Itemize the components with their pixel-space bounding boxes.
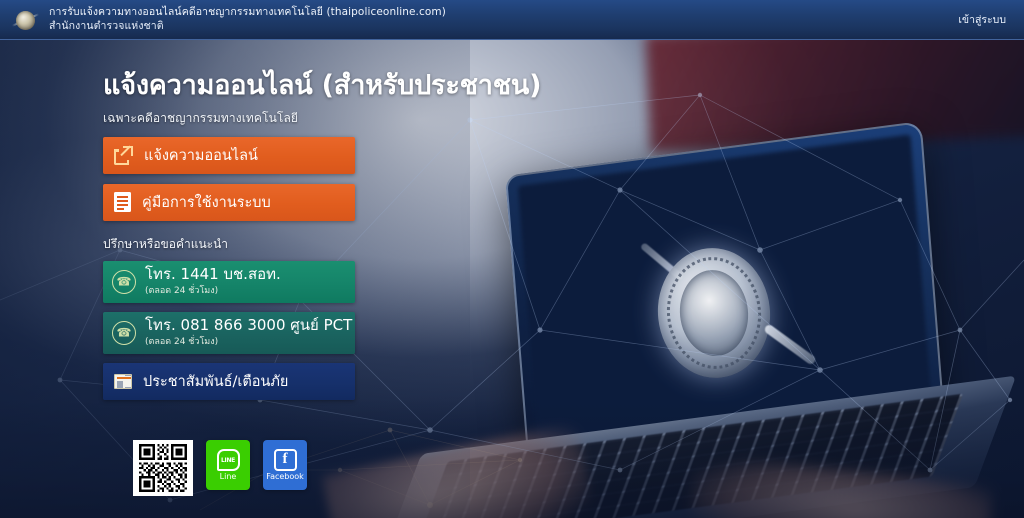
public-relations-button[interactable]: ประชาสัมพันธ์/เตือนภัย [103, 363, 355, 400]
phone-icon: ☎ [112, 321, 136, 345]
call-pct-label: โทร. 081 866 3000 ศูนย์ PCT [145, 316, 352, 334]
report-online-button[interactable]: แจ้งความออนไลน์ [103, 137, 355, 174]
call-1441-label: โทร. 1441 บช.สอท. [145, 265, 281, 283]
line-button-label: Line [220, 473, 237, 481]
header-title-line1: การรับแจ้งความทางออนไลน์คดีอาชญากรรมทางเ… [49, 6, 958, 19]
header-title-line2: สำนักงานตำรวจแห่งชาติ [49, 20, 958, 33]
document-icon [114, 192, 131, 212]
public-relations-button-label: ประชาสัมพันธ์/เตือนภัย [143, 370, 288, 393]
qr-code-icon [137, 444, 189, 492]
royal-thai-police-emblem-icon [10, 5, 40, 35]
advice-section-label: ปรึกษาหรือขอคำแนะนำ [103, 235, 355, 254]
call-pct-text: โทร. 081 866 3000 ศูนย์ PCT (ตลอด 24 ชั่… [145, 317, 355, 349]
page-subtitle: เฉพาะคดีอาชญากรรมทางเทคโนโลยี [103, 109, 403, 128]
call-pct-note: (ตลอด 24 ชั่วโมง) [145, 337, 218, 347]
user-manual-button[interactable]: คู่มือการใช้งานระบบ [103, 184, 355, 221]
hero-content: แจ้งความออนไลน์ (สำหรับประชาชน) เฉพาะคดี… [103, 70, 403, 400]
line-button[interactable]: LINE Line [206, 440, 250, 490]
call-1441-text: โทร. 1441 บช.สอท. (ตลอด 24 ชั่วโมง) [145, 266, 355, 298]
facebook-button[interactable]: f Facebook [263, 440, 307, 490]
report-online-button-label: แจ้งความออนไลน์ [144, 144, 258, 167]
qr-code[interactable] [133, 440, 193, 496]
call-pct-button[interactable]: ☎ โทร. 081 866 3000 ศูนย์ PCT (ตลอด 24 ช… [103, 312, 355, 354]
header-title-block: การรับแจ้งความทางออนไลน์คดีอาชญากรรมทางเ… [49, 6, 958, 33]
top-header-bar: การรับแจ้งความทางออนไลน์คดีอาชญากรรมทางเ… [0, 0, 1024, 40]
phone-icon: ☎ [112, 270, 136, 294]
user-manual-button-label: คู่มือการใช้งานระบบ [142, 191, 271, 214]
call-1441-button[interactable]: ☎ โทร. 1441 บช.สอท. (ตลอด 24 ชั่วโมง) [103, 261, 355, 303]
call-1441-note: (ตลอด 24 ชั่วโมง) [145, 286, 218, 296]
newspaper-icon [114, 374, 132, 389]
line-icon: LINE [217, 449, 240, 471]
page-root: การรับแจ้งความทางออนไลน์คดีอาชญากรรมทางเ… [0, 0, 1024, 518]
social-links-row: LINE Line f Facebook [133, 440, 307, 496]
login-link[interactable]: เข้าสู่ระบบ [958, 11, 1006, 28]
primary-action-buttons: แจ้งความออนไลน์ คู่มือการใช้งานระบบ ปรึก… [103, 137, 355, 400]
page-title: แจ้งความออนไลน์ (สำหรับประชาชน) [103, 70, 403, 102]
hero-section: แจ้งความออนไลน์ (สำหรับประชาชน) เฉพาะคดี… [0, 40, 1024, 518]
facebook-button-label: Facebook [266, 473, 304, 481]
external-link-icon [114, 146, 133, 165]
facebook-icon: f [274, 449, 297, 471]
